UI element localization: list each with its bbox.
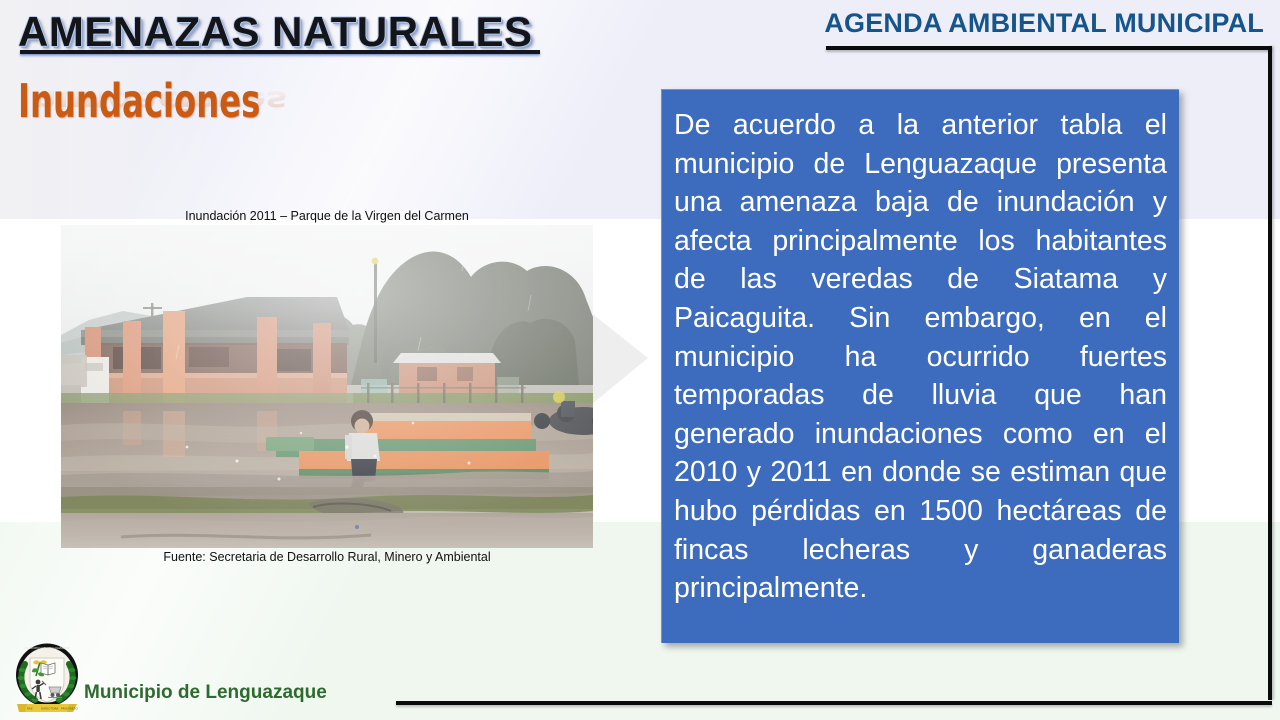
svg-text:DIRECTORA: DIRECTORA (41, 707, 59, 711)
coat-of-arms-icon: MUNICIPIO DE LENGUAZAQUE (13, 642, 81, 714)
flood-photo (61, 225, 593, 548)
page-title-underline (20, 50, 540, 54)
page-subtitle: Inundaciones (18, 74, 260, 128)
description-textbox: De acuerdo a la anterior tabla el munici… (661, 89, 1179, 643)
svg-text:PAZ: PAZ (27, 707, 33, 711)
slide-canvas: AMENAZAS NATURALES Inundaciones Inundaci… (0, 0, 1280, 720)
municipality-logo: MUNICIPIO DE LENGUAZAQUE (13, 642, 81, 714)
footer-rule (396, 701, 1272, 705)
agenda-header-title: AGENDA AMBIENTAL MUNICIPAL (824, 8, 1264, 39)
svg-text:MUNICIPIO DE LENGUAZAQUE: MUNICIPIO DE LENGUAZAQUE (25, 646, 70, 650)
page-title: AMENAZAS NATURALES (18, 8, 533, 56)
description-text: De acuerdo a la anterior tabla el munici… (674, 106, 1167, 646)
photo-caption-source: Fuente: Secretaria de Desarrollo Rural, … (61, 550, 593, 564)
footer-municipality-label: Municipio de Lenguazaque (84, 682, 327, 704)
frame-top-rule (826, 46, 1272, 50)
flood-photo-illustration (61, 225, 593, 548)
photo-caption-top: Inundación 2011 – Parque de la Virgen de… (61, 209, 593, 223)
svg-text:PROGRESO: PROGRESO (61, 707, 78, 711)
frame-right-rule (1268, 46, 1272, 700)
